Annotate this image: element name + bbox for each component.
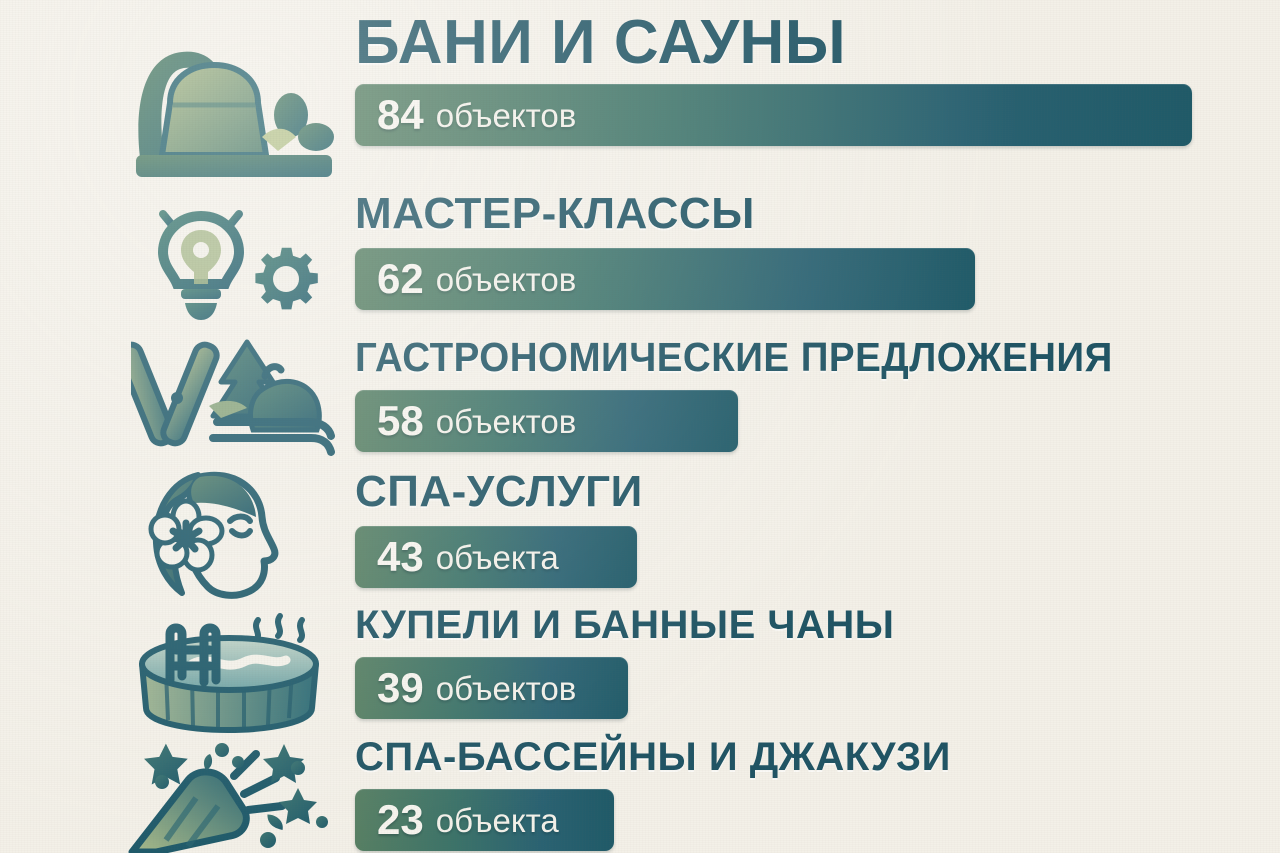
sauna-bucket-icon [118,30,348,190]
hot-tub-icon [118,605,348,735]
category-title: ГАСТРОНОМИЧЕСКИЕ ПРЕДЛОЖЕНИЯ [355,337,1113,378]
value-unit: объектов [436,99,577,132]
value-bar: 23 объекта [355,789,614,851]
value-number: 23 [377,799,424,841]
skis-sled-tree-icon [118,337,348,465]
value-unit: объекта [436,541,559,574]
value-number: 58 [377,400,424,442]
value-unit: объектов [436,405,577,438]
value-unit: объекта [436,804,559,837]
value-number: 62 [377,258,424,300]
value-bar: 58 объектов [355,390,738,452]
value-bar: 43 объекта [355,526,637,588]
value-unit: объектов [436,263,577,296]
category-title: БАНИ И САУНЫ [355,12,1192,74]
spa-woman-flower-icon [118,470,348,600]
value-number: 84 [377,94,424,136]
party-popper-icon [118,737,348,853]
value-number: 43 [377,536,424,578]
value-bar: 39 объектов [355,657,628,719]
infographic-sheet: БАНИ И САУНЫ 84 объектов [0,0,1280,853]
category-title: КУПЕЛИ И БАННЫЕ ЧАНЫ [355,605,894,645]
value-bar: 84 объектов [355,84,1192,146]
value-bar: 62 объектов [355,248,975,310]
lightbulb-gear-icon [118,192,348,327]
category-title: СПА-УСЛУГИ [355,470,643,514]
category-title: МАСТЕР-КЛАССЫ [355,192,975,236]
value-number: 39 [377,667,424,709]
value-unit: объектов [436,672,577,705]
category-title: СПА-БАССЕЙНЫ И ДЖАКУЗИ [355,737,951,777]
